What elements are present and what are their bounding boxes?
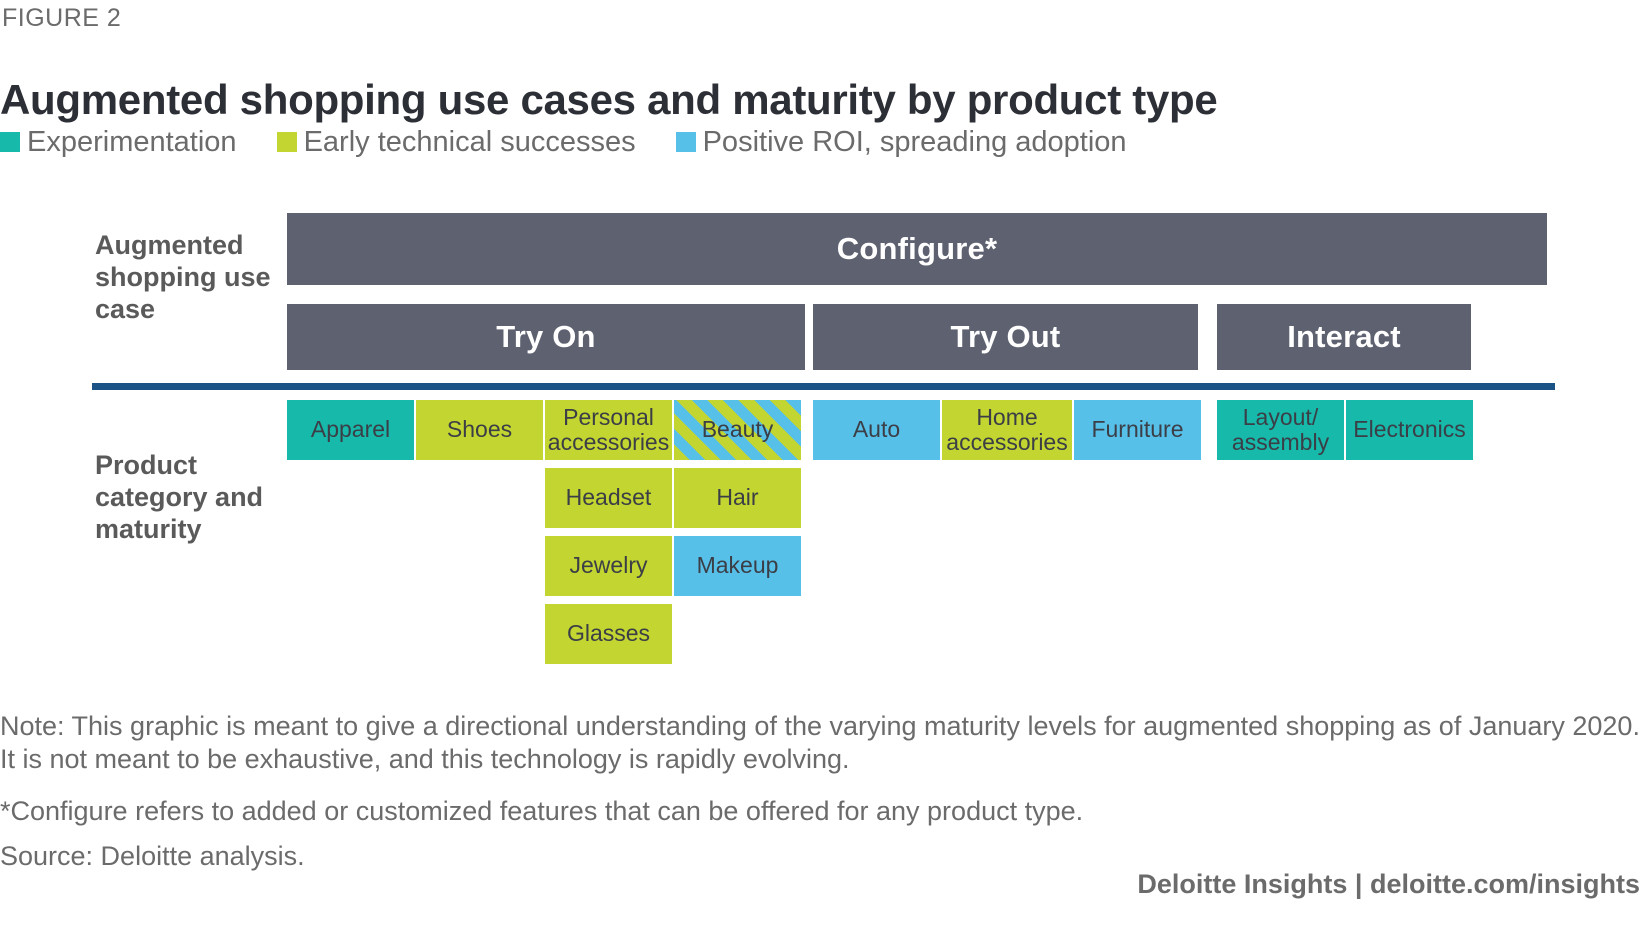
category-box-home-accessories: Home accessories (942, 400, 1072, 460)
brand-footer: Deloitte Insights | deloitte.com/insight… (1137, 869, 1640, 900)
category-box-layout-assembly: Layout/ assembly (1217, 400, 1344, 460)
usecase-bar-configure: Configure* (287, 213, 1547, 285)
axis-label-use-case: Augmented shopping use case (95, 230, 305, 326)
category-box-glasses: Glasses (545, 604, 672, 664)
axis-label-product-category: Product category and maturity (95, 450, 305, 546)
usecase-bar-try-out: Try Out (813, 304, 1198, 370)
usecase-bar-interact: Interact (1217, 304, 1471, 370)
category-box-headset: Headset (545, 468, 672, 528)
category-box-electronics: Electronics (1346, 400, 1473, 460)
category-box-furniture: Furniture (1074, 400, 1201, 460)
usecase-bar-try-on: Try On (287, 304, 805, 370)
category-box-apparel: Apparel (287, 400, 414, 460)
note-configure: *Configure refers to added or customized… (0, 795, 1640, 828)
category-box-shoes: Shoes (416, 400, 543, 460)
category-box-jewelry: Jewelry (545, 536, 672, 596)
note-main: Note: This graphic is meant to give a di… (0, 710, 1640, 776)
category-box-beauty: Beauty (674, 400, 801, 460)
category-box-makeup: Makeup (674, 536, 801, 596)
section-divider (92, 383, 1555, 390)
note-source: Source: Deloitte analysis. (0, 840, 1640, 873)
category-box-auto: Auto (813, 400, 940, 460)
category-box-hair: Hair (674, 468, 801, 528)
category-box-personal-accessories: Personal accessories (545, 400, 672, 460)
